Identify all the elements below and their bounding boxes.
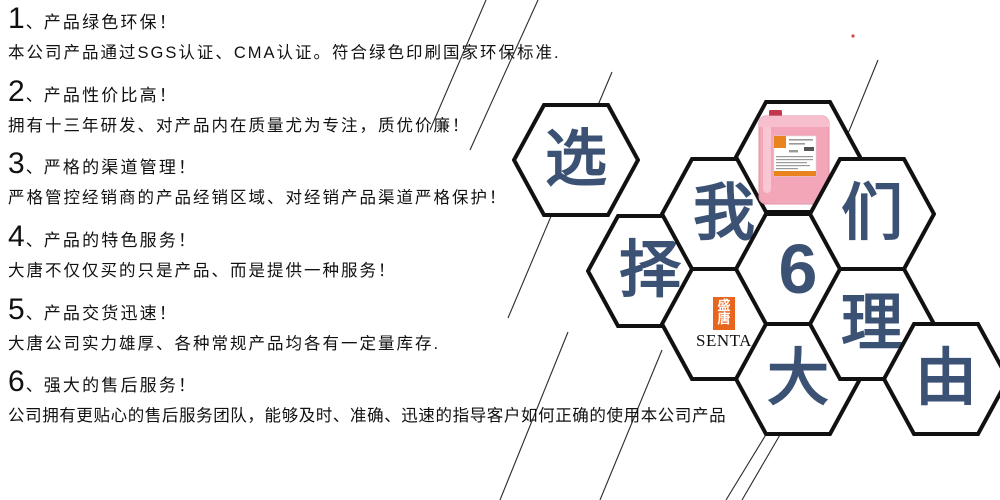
reason-separator-2: 、 [26,87,43,104]
reason-title-6: 强大的售后服务！ [44,377,198,394]
reason-title-3: 严格的渠道管理！ [44,159,198,176]
reason-item-1: 1 、 产品绿色环保！ 本公司产品通过SGS认证、CMA认证。符合绿色印刷国家环… [8,4,968,64]
reason-title-5: 产品交货迅速！ [44,305,178,322]
reason-separator-4: 、 [26,232,43,249]
hex-label-you: 由 [882,322,1000,436]
reason-number-4: 4 [8,222,25,252]
reason-heading-1: 1 、 产品绿色环保！ [8,4,968,38]
brand-seal-char-bottom: 唐 [714,313,734,326]
reason-separator-3: 、 [26,159,43,176]
reason-number-3: 3 [8,149,25,179]
hex-cell-xuan[interactable]: 选 [512,103,640,217]
reason-separator-6: 、 [26,377,43,394]
hex-cell-men[interactable]: 们 [808,157,936,271]
reason-body-1: 本公司产品通过SGS认证、CMA认证。符合绿色印刷国家环保标准. [8,43,968,64]
hex-label-men: 们 [808,157,936,271]
reason-number-5: 5 [8,295,25,325]
reason-separator-5: 、 [26,305,43,322]
reason-title-4: 产品的特色服务！ [44,232,198,249]
reason-separator-1: 、 [26,14,43,31]
promo-banner: 1 、 产品绿色环保！ 本公司产品通过SGS认证、CMA认证。符合绿色印刷国家环… [0,0,1000,500]
reason-number-2: 2 [8,77,25,107]
reason-number-1: 1 [8,4,25,34]
reason-title-1: 产品绿色环保！ [44,14,178,31]
brand-seal-icon: 盛 唐 [713,297,735,330]
reason-title-2: 产品性价比高！ [44,87,178,104]
reason-number-6: 6 [8,367,25,397]
hex-cell-you[interactable]: 由 [882,322,1000,436]
hex-label-xuan: 选 [512,103,640,217]
